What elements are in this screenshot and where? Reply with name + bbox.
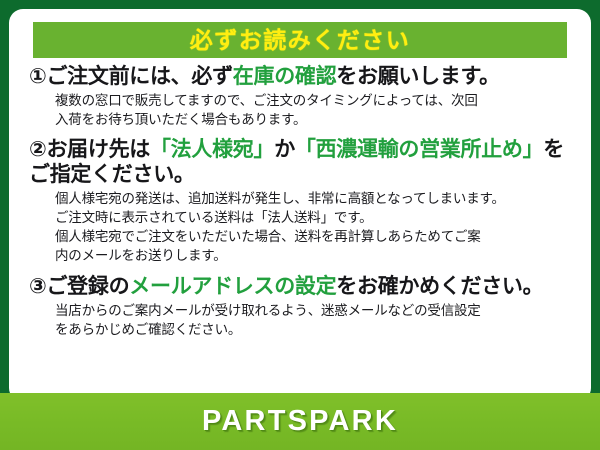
section-3-body: 当店からのご案内メールが受け取れるよう、迷惑メールなどの受信設定 をあらかじめご… <box>29 301 573 339</box>
section-1-heading-part-1: ご注文前には、必ず <box>46 65 232 88</box>
section-2-heading-part-1: お届け先は <box>46 138 150 161</box>
section-1-number: ① <box>29 65 46 88</box>
section-2-heading-emphasis-2: 「西濃運輸の営業所止め」 <box>295 138 543 161</box>
section-3-body-line-1: 当店からのご案内メールが受け取れるよう、迷惑メールなどの受信設定 <box>55 301 573 320</box>
brand-logo-text: PARTSPARK <box>202 405 398 438</box>
section-1-body-line-2: 入荷をお待ち頂いただく場合もあります。 <box>55 110 573 129</box>
section-2-number: ② <box>29 138 46 161</box>
section-2-body-line-4: 内のメールをお送りします。 <box>55 246 573 265</box>
section-2-body-line-2: ご注文時に表示されている送料は「法人送料」です。 <box>55 208 573 227</box>
section-3-heading-part-1: ご登録の <box>46 275 129 298</box>
section-3-heading-part-3: をお確かめください。 <box>336 275 543 298</box>
notice-banner: 必ずお読みください ①ご注文前には、必ず在庫の確認をお願いします。 複数の窓口で… <box>0 0 600 450</box>
section-3-number: ③ <box>29 275 46 298</box>
section-2-heading: ②お届け先は「法人様宛」か「西濃運輸の営業所止め」をご指定ください。 <box>29 138 573 188</box>
sections-container: ①ご注文前には、必ず在庫の確認をお願いします。 複数の窓口で販売してますので、ご… <box>23 65 577 339</box>
section-1-heading-part-3: をお願いします。 <box>336 65 500 88</box>
section-2-heading-part-3: か <box>274 138 295 161</box>
header-band: 必ずお読みください <box>33 22 567 58</box>
section-3-heading: ③ご登録のメールアドレスの設定をお確かめください。 <box>29 275 573 300</box>
section-1-heading-emphasis: 在庫の確認 <box>233 65 337 88</box>
section-3: ③ご登録のメールアドレスの設定をお確かめください。 当店からのご案内メールが受け… <box>29 275 573 339</box>
section-1-heading: ①ご注文前には、必ず在庫の確認をお願いします。 <box>29 65 573 90</box>
section-2-heading-emphasis-1: 「法人様宛」 <box>150 138 274 161</box>
section-1-body: 複数の窓口で販売してますので、ご注文のタイミングによっては、次回 入荷をお待ち頂… <box>29 91 573 129</box>
section-3-body-line-2: をあらかじめご確認ください。 <box>55 320 573 339</box>
section-3-heading-emphasis: メールアドレスの設定 <box>129 275 336 298</box>
section-1-body-line-1: 複数の窓口で販売してますので、ご注文のタイミングによっては、次回 <box>55 91 573 110</box>
section-2-body: 個人様宅宛の発送は、追加送料が発生し、非常に高額となってしまいます。 ご注文時に… <box>29 189 573 266</box>
section-2: ②お届け先は「法人様宛」か「西濃運輸の営業所止め」をご指定ください。 個人様宅宛… <box>29 138 573 265</box>
section-2-body-line-3: 個人様宅宛でご注文をいただいた場合、送料を再計算しあらためてご案 <box>55 227 573 246</box>
notice-card: 必ずお読みください ①ご注文前には、必ず在庫の確認をお願いします。 複数の窓口で… <box>9 9 591 402</box>
section-2-body-line-1: 個人様宅宛の発送は、追加送料が発生し、非常に高額となってしまいます。 <box>55 189 573 208</box>
section-1: ①ご注文前には、必ず在庫の確認をお願いします。 複数の窓口で販売してますので、ご… <box>29 65 573 129</box>
page-title: 必ずお読みください <box>190 29 411 52</box>
footer-bar: PARTSPARK <box>0 393 600 450</box>
